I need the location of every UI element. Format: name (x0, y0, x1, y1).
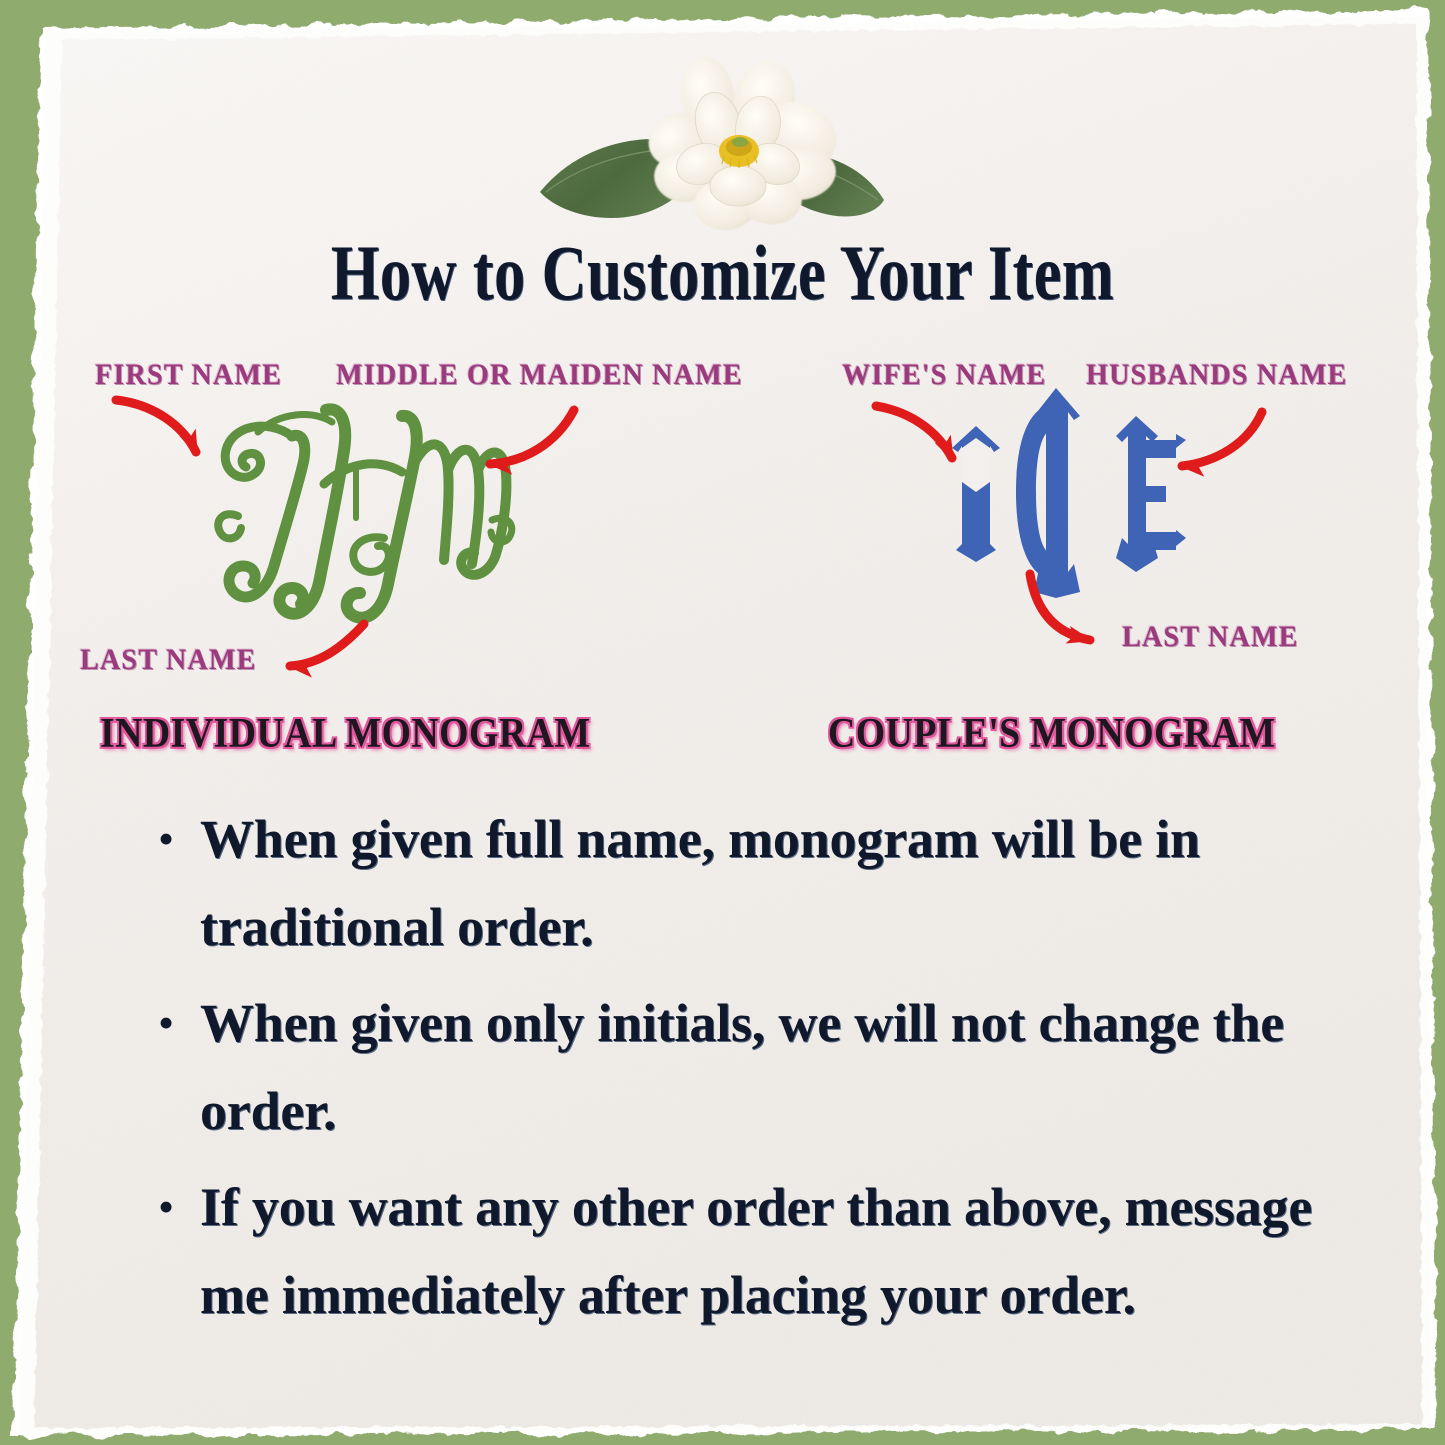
label-middle-name: MIDDLE OR MAIDEN NAME (336, 358, 743, 392)
label-last-name-couple: LAST NAME (1122, 620, 1299, 654)
label-first-name: FIRST NAME (95, 358, 282, 392)
arrowhead-last-name-individual (286, 657, 314, 678)
bullet-icon: • (158, 979, 200, 1067)
list-item: • When given full name, monogram will be… (158, 795, 1318, 971)
list-item: • When given only initials, we will not … (158, 979, 1318, 1155)
list-item-text: When given full name, monogram will be i… (200, 795, 1318, 971)
page-title: How to Customize Your Item (145, 234, 1301, 312)
infographic-canvas: How to Customize Your Item FIRST NAME MI… (0, 0, 1445, 1445)
content-layer: How to Customize Your Item FIRST NAME MI… (0, 0, 1445, 1445)
bullet-icon: • (158, 795, 200, 883)
heading-couple-monogram: COUPLE'S MONOGRAM (828, 710, 1276, 758)
arrowhead-last-name-couple (1066, 626, 1096, 650)
list-item-text: If you want any other order than above, … (200, 1163, 1318, 1339)
individual-monogram-graphic (196, 388, 526, 638)
label-last-name-individual: LAST NAME (80, 643, 257, 677)
list-item-text: When given only initials, we will not ch… (200, 979, 1318, 1155)
heading-individual-monogram: INDIVIDUAL MONOGRAM (100, 710, 591, 758)
arrow-first-name (116, 400, 196, 452)
bullet-icon: • (158, 1163, 200, 1251)
magnolia-flower-icon (512, 52, 912, 242)
list-item: • If you want any other order than above… (158, 1163, 1318, 1339)
couple-monogram-graphic (938, 386, 1198, 598)
instructions-list: • When given full name, monogram will be… (158, 795, 1318, 1347)
